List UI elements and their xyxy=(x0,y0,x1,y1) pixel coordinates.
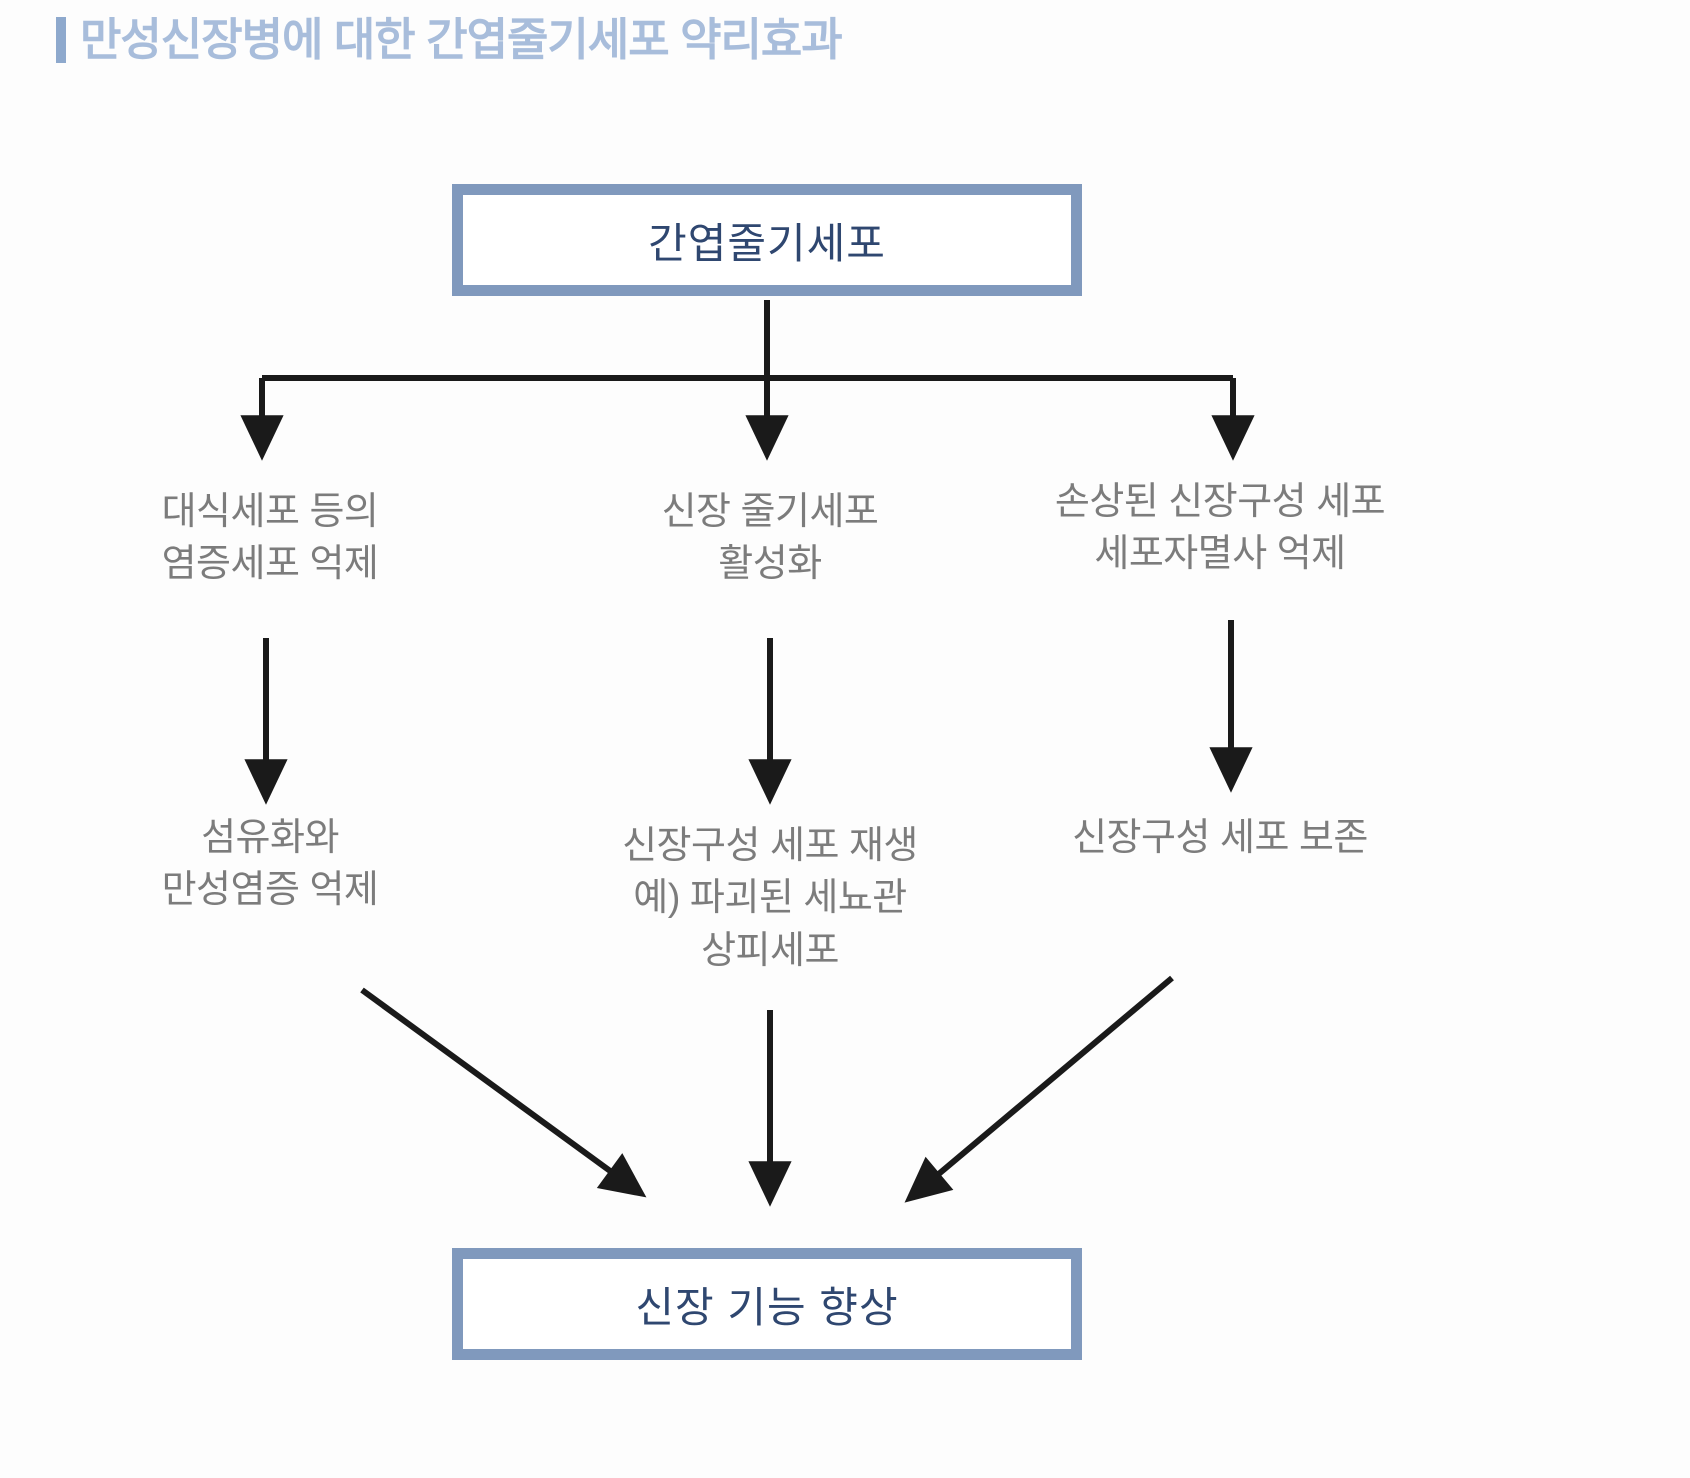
flow-box-result[interactable]: 신장 기능 향상 xyxy=(452,1248,1082,1360)
page-title: 만성신장병에 대한 간엽줄기세포 약리효과 xyxy=(56,16,842,63)
title-accent-bar xyxy=(56,17,66,63)
connector-left-outcome-to-result xyxy=(362,990,628,1184)
node-right-mechanism: 손상된 신장구성 세포 세포자멸사 억제 xyxy=(990,476,1450,581)
flow-box-result-label: 신장 기능 향상 xyxy=(635,1274,898,1335)
flow-box-source-label: 간엽줄기세포 xyxy=(648,210,886,271)
node-left-mechanism: 대식세포 등의 염증세포 억제 xyxy=(60,486,480,591)
flow-box-source[interactable]: 간엽줄기세포 xyxy=(452,184,1082,296)
node-center-mechanism: 신장 줄기세포 활성화 xyxy=(560,486,980,591)
slide-canvas: 만성신장병에 대한 간엽줄기세포 약리효과 xyxy=(0,0,1690,1478)
node-center-outcome: 신장구성 세포 재생 예) 파괴된 세뇨관 상피세포 xyxy=(560,820,980,977)
title-label: 만성신장병에 대한 간엽줄기세포 약리효과 xyxy=(80,16,842,63)
connector-right-outcome-to-result xyxy=(922,978,1172,1188)
node-left-outcome: 섬유화와 만성염증 억제 xyxy=(60,812,480,917)
node-right-outcome: 신장구성 세포 보존 xyxy=(990,812,1450,864)
